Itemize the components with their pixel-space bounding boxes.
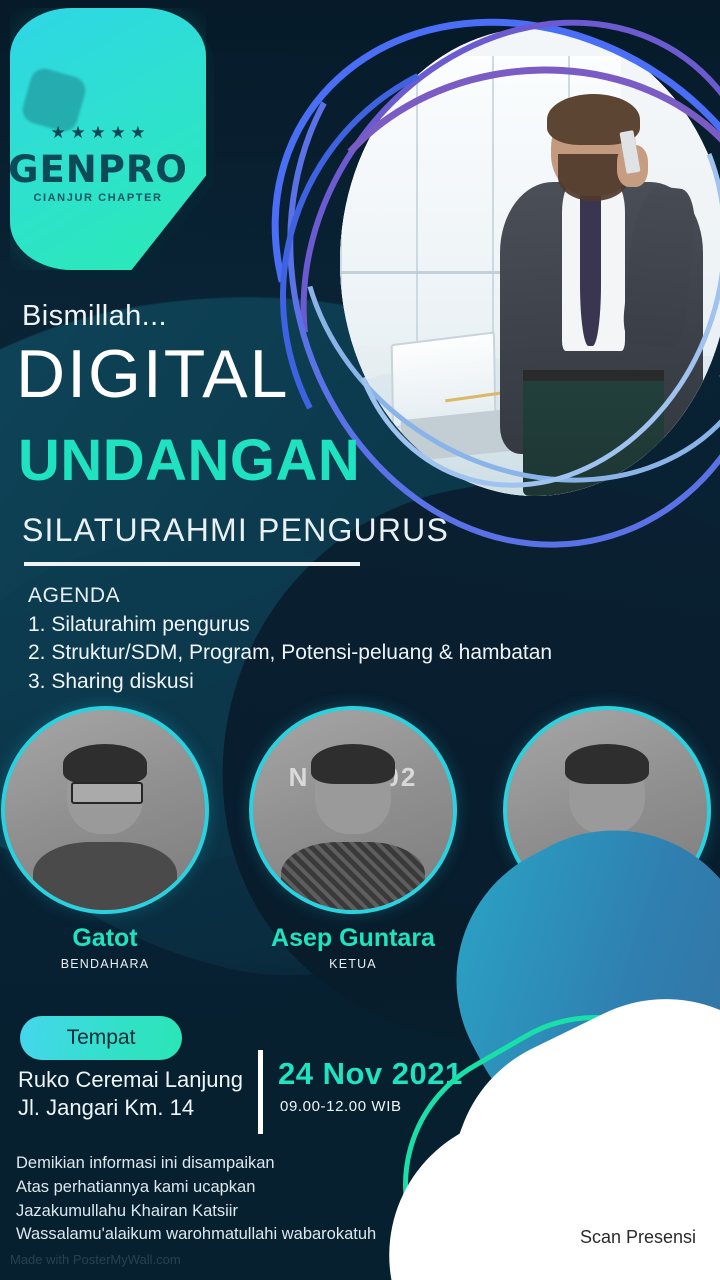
closing-line: Demikian informasi ini disampaikan — [16, 1152, 376, 1176]
scan-presensi-label: Scan Presensi — [580, 1227, 696, 1248]
closing-line: Wassalamu'alaikum warohmatullahi wabarok… — [16, 1223, 376, 1247]
person-name: Asep Guntara — [238, 924, 468, 953]
avatar-torso — [281, 842, 425, 914]
headline-title: DIGITAL — [16, 340, 289, 408]
avatar-hair — [311, 744, 395, 784]
avatar: N KE 202 — [249, 706, 457, 914]
watermark: Made with PosterMyWall.com — [10, 1252, 181, 1267]
poster-canvas: ★ ★ ★ ★ ★ GENPRO CIANJUR CHAPTER Bismill… — [0, 0, 720, 1280]
avatar-glasses-icon — [71, 782, 143, 804]
venue-date-divider — [258, 1050, 263, 1134]
headline-accent: UNDANGAN — [18, 432, 360, 490]
headline-kicker: Bismillah... — [22, 300, 167, 333]
headline-divider — [24, 562, 360, 566]
logo-stars-icon: ★ ★ ★ ★ ★ — [8, 124, 188, 141]
venue-address: Ruko Ceremai Lanjung Jl. Jangari Km. 14 — [18, 1066, 243, 1122]
person-card: N KE 202 Asep Guntara KETUA — [238, 706, 468, 971]
avatar-torso — [33, 842, 177, 914]
avatar: NAR — [1, 706, 209, 914]
person-role: KETUA — [238, 957, 468, 971]
venue-pill-label: Tempat — [20, 1016, 182, 1060]
person-card: NAR Gatot BENDAHARA — [0, 706, 220, 971]
agenda-item: 3. Sharing diskusi — [28, 668, 552, 697]
closing-line: Atas perhatiannya kami ucapkan — [16, 1176, 376, 1200]
headline-subtitle: SILATURAHMI PENGURUS — [22, 512, 449, 549]
agenda-item: 2. Struktur/SDM, Program, Potensi-peluan… — [28, 639, 552, 668]
closing-line: Jazakumullahu Khairan Katsiir — [16, 1200, 376, 1224]
agenda-item: 1. Silaturahim pengurus — [28, 611, 552, 640]
avatar-hair — [63, 744, 147, 784]
person-role: BENDAHARA — [0, 957, 220, 971]
venue-address-line1: Ruko Ceremai Lanjung — [18, 1066, 243, 1094]
event-date: 24 Nov 2021 — [278, 1056, 463, 1092]
venue-address-line2: Jl. Jangari Km. 14 — [18, 1094, 243, 1122]
avatar-hair — [565, 744, 649, 784]
person-name: Gatot — [0, 924, 220, 953]
closing-block: Demikian informasi ini disampaikan Atas … — [16, 1152, 376, 1247]
event-time: 09.00-12.00 WIB — [280, 1098, 402, 1115]
logo-chapter: CIANJUR CHAPTER — [8, 192, 188, 204]
agenda-block: AGENDA 1. Silaturahim pengurus 2. Strukt… — [28, 582, 552, 696]
logo-name: GENPRO — [8, 148, 188, 191]
agenda-title: AGENDA — [28, 582, 552, 611]
